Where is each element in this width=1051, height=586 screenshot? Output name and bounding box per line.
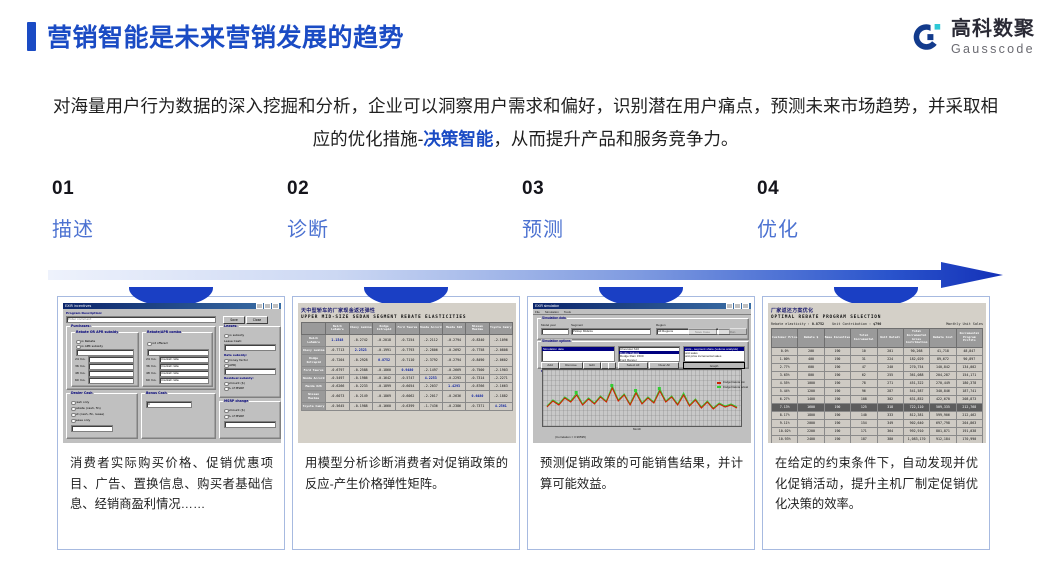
cell: 190 [824, 355, 850, 363]
rebate-meta-elasticity-value: 0.8752 [812, 322, 824, 326]
list-outputs[interactable]: units - segment share (volume analysis) … [683, 346, 745, 362]
cell: 96 [851, 387, 877, 395]
radio-rebate-cash-fin[interactable]: rebate (cash, fin) [71, 406, 101, 410]
step-labels: 01 描述 02 诊断 03 预测 04 优化 [52, 178, 1012, 248]
close-button[interactable]: Close [246, 316, 268, 324]
label-segment: Segment [571, 323, 583, 327]
exir-simulation-window: EXIR simulation File Simulation Tools Si… [533, 303, 751, 443]
radio-residual-pct-msrp[interactable]: % of MSRP [224, 386, 244, 390]
table-row: 5.44% 1200 190 96 287 541,587 340,846 18… [772, 387, 983, 395]
elasticity-row-head-6: Nissan Maxima [302, 390, 326, 402]
cell: 200 [798, 347, 824, 355]
cell: 1,083,170 [903, 435, 929, 443]
list-simulation-cases[interactable]: Simulation data [541, 346, 615, 362]
radio-no-rebate[interactable]: no Rebate [76, 339, 95, 343]
cell: 190 [824, 371, 850, 379]
elasticity-title-en: UPPER MID-SIZE SEDAN SEGMENT REBATE ELAS… [301, 315, 513, 320]
logo-text-cn: 高科数聚 [951, 19, 1035, 39]
group-simulation-options: Simulation options Simulation data Add R… [537, 341, 749, 369]
cell: -0.7500 [466, 366, 489, 374]
card-optimize[interactable]: 厂家返还方案优化 OPTIMAL REBATE PROGRAM SELECTIO… [762, 296, 990, 550]
sim-clear-all-button[interactable]: Clear All [649, 362, 679, 369]
input-term-36[interactable] [88, 363, 134, 370]
table-row: Toyota Camry -0.5645 -0.1988 -0.1660 -0.… [302, 402, 513, 410]
elasticity-corner-cell [302, 323, 326, 335]
cell: -0.6266 [326, 382, 349, 390]
list-models[interactable]: Chevrolet S10 Dodge Dakota Dodge Ram 150… [618, 346, 680, 362]
cell: 271 [877, 379, 903, 387]
cell: -0.6399 [396, 402, 419, 410]
radio-msrp-pct[interactable]: % of MSRP [224, 414, 244, 418]
elasticity-col-5: Mazda 626 [442, 323, 465, 335]
cell: 600 [798, 363, 824, 371]
cell: 78 [851, 379, 877, 387]
cell: 349 [877, 419, 903, 427]
card-caption-predict: 预测促销政策的可能销售结果，并计算可能效益。 [540, 453, 743, 494]
cell: 6.27% [772, 395, 798, 403]
rebate-col-1: Rebate $ [798, 328, 824, 347]
cell: 140,842 [930, 363, 956, 371]
step-03: 03 预测 [522, 178, 722, 242]
cell: -2.2112 [419, 334, 442, 346]
cell: 270,754 [903, 363, 929, 371]
cell: 187,741 [956, 387, 982, 395]
cell: -0.7314 [466, 374, 489, 382]
cell: -2.1663 [489, 382, 512, 390]
label-combo-term-24: 24 mo. [146, 357, 156, 361]
legend-item-sim: Dodge Dakota sim [717, 381, 748, 384]
card-predict[interactable]: EXIR simulation File Simulation Tools Si… [527, 296, 755, 550]
rebate-col-5: Total Incremental Gross Contribution [903, 328, 929, 347]
select-combo-amount[interactable] [147, 349, 209, 356]
elasticity-row-head-4: Honda Accord [302, 374, 326, 382]
radio-all-cash-fin-lease[interactable]: all (cash, fin, lease) [71, 412, 104, 416]
cell: 190 [824, 411, 850, 419]
group-rebate-apr-combo: Rebate/APR combo not offered 24 mo. mark… [142, 332, 213, 387]
lead-text-part2: ，从而提升产品和服务竞争力。 [493, 129, 738, 149]
rebate-col-2: Base Incentive [824, 328, 850, 347]
step-03-number: 03 [522, 178, 722, 200]
table-row: 0.0% 200 190 10 201 90,268 41,718 48,847 [772, 347, 983, 355]
cell: 422,670 [930, 395, 956, 403]
cell: 62 [851, 371, 877, 379]
cell: -2.2271 [489, 374, 512, 382]
rebate-header-row: Customer Price Rebate $ Base Incentive T… [772, 328, 983, 347]
table-row: 6.27% 1400 190 108 302 631,852 422,670 2… [772, 395, 983, 403]
cell: 224 [877, 355, 903, 363]
cell: -0.5645 [326, 402, 349, 410]
cell: 140 [851, 411, 877, 419]
radio-residual-amount[interactable]: amount ($) [224, 381, 245, 385]
cell: 364 [877, 427, 903, 435]
cell: 108 [851, 395, 877, 403]
elasticity-row-head-0: Buick LeSabre [302, 334, 326, 346]
cell: 697,798 [930, 419, 956, 427]
cell: 10.93% [772, 435, 798, 443]
optimal-rebate-table: Customer Price Rebate $ Base Incentive T… [771, 328, 983, 444]
cell: 187 [851, 435, 877, 443]
legend-label-sim: Dodge Dakota sim [723, 381, 745, 384]
cell: 190 [824, 403, 850, 411]
label-region: Region [656, 323, 666, 327]
step-01-label: 描述 [52, 213, 252, 242]
select-bonus-cash-amount[interactable] [146, 401, 192, 408]
step-02-label: 诊断 [287, 213, 487, 242]
label-term-60: 60 mo. [75, 378, 85, 382]
legend-swatch-sim-icon [717, 382, 721, 384]
cell: -0.7204 [326, 354, 349, 366]
cell: -0.7254 [396, 334, 419, 346]
menu-file[interactable]: File [535, 310, 540, 314]
card-diagnose[interactable]: 天中型轿车的厂家现金返还弹性 UPPER MID-SIZE SEDAN SEGM… [292, 296, 520, 550]
radio-apr[interactable]: (APR) [224, 363, 236, 367]
group-purchases: Purchases: Rebate OR APR subsidy no Reba… [66, 326, 216, 390]
correlation-text: (Correlation = 0.96595) [555, 435, 586, 439]
cell: 912,184 [930, 435, 956, 443]
cell: -0.2692 [442, 346, 465, 354]
label-combo-term-60: 60 mo. [146, 378, 156, 382]
add-button[interactable]: Add [541, 362, 559, 369]
cell: 0.8752 [372, 354, 395, 366]
elasticity-col-3: Ford Taurus [396, 323, 419, 335]
cell: -0.2293 [442, 374, 465, 382]
select-lease-cash[interactable] [224, 344, 276, 351]
input-term-48[interactable] [88, 370, 134, 377]
edit-button[interactable]: Edit [583, 362, 601, 369]
cell: 333 [877, 411, 903, 419]
select-rebate-amount[interactable] [76, 349, 134, 356]
cell: -0.1869 [372, 390, 395, 402]
cell: 89,672 [930, 355, 956, 363]
select-model-year[interactable] [541, 328, 569, 335]
group-dealer-cash-title: Dealer Cash [70, 391, 94, 395]
table-row: Chevy Lumina -0.7713 2.2523 -0.1991 -0.7… [302, 346, 513, 354]
step-04: 04 优化 [757, 178, 957, 242]
cell: 201 [877, 347, 903, 355]
cell: 191,038 [956, 427, 982, 435]
cell: 318 [877, 403, 903, 411]
graph-button[interactable]: Graph [683, 362, 745, 369]
cell: 451,322 [903, 379, 929, 387]
cell: -2.2806 [419, 346, 442, 354]
table-row: 2.77% 600 190 47 240 270,754 140,842 134… [772, 363, 983, 371]
cell: 8.17% [772, 411, 798, 419]
radio-money-factor[interactable]: money factor [224, 358, 248, 362]
cell: 212,462 [956, 411, 982, 419]
cell: 4.2561 [489, 402, 512, 410]
card-caption-optimize: 在给定的约束条件下，自动发现并优化促销活动，提升主机厂制定促销优化决策的效率。 [775, 453, 978, 515]
cell: -2.3792 [419, 354, 442, 366]
group-msrp-change-title: MSRP change [223, 399, 249, 403]
cell: 2400 [798, 435, 824, 443]
label-combo-term-36: 36 mo. [146, 364, 156, 368]
group-rebate-apr-combo-title: Rebate/APR combo [146, 330, 182, 334]
cell: -0.6054 [396, 382, 419, 390]
step-01-number: 01 [52, 178, 252, 200]
cell: -2.0808 [489, 346, 512, 354]
elasticity-row-head-5: Mazda 626 [302, 382, 326, 390]
run-button[interactable]: Run [718, 328, 747, 335]
cell: 171 [851, 427, 877, 435]
input-rate-subsidy-value[interactable] [224, 368, 276, 375]
rebate-meta-row: Rebate elasticity : 0.8752 Unit Contribu… [771, 322, 983, 326]
cell: -0.7110 [396, 354, 419, 366]
cell: -0.5497 [326, 374, 349, 382]
cell: -2.1903 [489, 366, 512, 374]
input-msrp-change-value[interactable] [224, 421, 276, 428]
cell: -0.2742 [349, 334, 372, 346]
radio-no-subsidy[interactable]: no subsidy [224, 333, 244, 337]
group-dealer-cash: Dealer Cash cash only rebate (cash, fin)… [66, 393, 138, 439]
cell: 212,768 [956, 403, 982, 411]
cell: 190 [824, 347, 850, 355]
cell: 182,029 [903, 355, 929, 363]
cell: 1600 [798, 403, 824, 411]
elasticity-row-head-3: Ford Taurus [302, 366, 326, 374]
cell: 48,847 [956, 347, 982, 355]
cell: -2.2037 [419, 382, 442, 390]
move-down-icon[interactable] [608, 362, 616, 369]
cell: -0.1899 [372, 382, 395, 390]
simulation-case-selected[interactable]: Simulation data [542, 347, 614, 351]
label-lease-cash: Lease Cash: [224, 339, 242, 343]
cell: -0.7371 [466, 402, 489, 410]
cell: 5.44% [772, 387, 798, 395]
page-title: 营销智能是未来营销发展的趋势 [47, 18, 404, 54]
sim-model-option-3[interactable]: Ford Ranger [619, 358, 679, 362]
elasticity-matrix: 天中型轿车的厂家现金返还弹性 UPPER MID-SIZE SEDAN SEGM… [298, 303, 516, 443]
cell: -0.7793 [396, 346, 419, 354]
lead-paragraph: 对海量用户行为数据的深入挖掘和分析，企业可以洞察用户需求和偏好，识别潜在用户痛点… [50, 90, 1001, 156]
rebate-meta-right: Monthly Unit Sales [946, 322, 983, 326]
value-segment: Pickup Midsize [573, 329, 593, 333]
cell: 170,990 [956, 435, 982, 443]
cell: 812,381 [903, 411, 929, 419]
cell: 2200 [798, 427, 824, 435]
elasticity-col-1: Chevy Lumina [349, 323, 372, 335]
group-leases-title: Leases: [223, 324, 239, 328]
logo-text-en: Gausscode [951, 43, 1035, 56]
cell: 722,110 [903, 403, 929, 411]
cell: 992,910 [903, 427, 929, 435]
elasticity-col-4: Honda Accord [419, 323, 442, 335]
elasticity-header-row: Buick LeSabre Chevy Lumina Dodge Intrepi… [302, 323, 513, 335]
label-term-48: 48 mo. [75, 371, 85, 375]
cell: 287 [877, 387, 903, 395]
cell: 0.6480 [466, 390, 489, 402]
cell: 190 [824, 419, 850, 427]
cell: 204,863 [956, 419, 982, 427]
cell: 631,852 [903, 395, 929, 403]
cell: 41,718 [930, 347, 956, 355]
cell: 1.00% [772, 355, 798, 363]
rebate-col-4: Unit Retail [877, 328, 903, 347]
legend-swatch-actual-icon [717, 386, 721, 388]
label-combo-term-48: 48 mo. [146, 371, 156, 375]
cell: 1800 [798, 411, 824, 419]
brand-logo: 高科数聚 Gausscode [909, 19, 1035, 56]
cell: -2.1882 [489, 390, 512, 402]
cell: -0.1660 [372, 402, 395, 410]
save-button[interactable]: Save [223, 316, 245, 324]
card-thumbnail-describe: EXIR incentives Program Description: Ent… [63, 303, 281, 443]
cell: 90,268 [903, 347, 929, 355]
cell: -0.8490 [466, 354, 489, 366]
radio-lease-only[interactable]: lease only [71, 418, 90, 422]
group-leases: Leases: no subsidy Lease Cash: Rate subs… [219, 326, 281, 398]
table-row: 4.55% 1000 190 78 271 451,322 270,449 18… [772, 379, 983, 387]
card-caption-describe: 消费者实际购买价格、促销优惠项目、广告、置换信息、购买者基础信息、经销商盈利情况… [70, 453, 273, 515]
table-row: 1.00% 400 190 31 224 182,029 89,672 90,8… [772, 355, 983, 363]
cell: -0.2794 [442, 354, 465, 366]
sim-select-all-button[interactable]: Select All [618, 362, 648, 369]
elasticity-col-7: Toyota Camry [489, 323, 512, 335]
radio-msrp-amount[interactable]: amount ($) [224, 408, 245, 412]
cell: -0.8340 [466, 334, 489, 346]
table-row: Buick LeSabre 1.1548 -0.2742 -0.2018 -0.… [302, 334, 513, 346]
group-msrp-change: MSRP change amount ($) % of MSRP [219, 401, 281, 439]
cell: 801,871 [930, 427, 956, 435]
rebate-col-0: Customer Price [772, 328, 798, 347]
chart-xaxis-label: Month [633, 427, 641, 431]
step-04-number: 04 [757, 178, 957, 200]
table-row: 3.63% 800 190 62 255 361,088 204,287 154… [772, 371, 983, 379]
step-01: 01 描述 [52, 178, 252, 242]
cell: 2.77% [772, 363, 798, 371]
stage-cards: EXIR incentives Program Description: Ent… [0, 296, 1051, 558]
cell: -1.7436 [419, 402, 442, 410]
input-term-24[interactable] [88, 356, 134, 363]
label-model-year: Model year [541, 323, 556, 327]
exir-incentives-dialog: EXIR incentives Program Description: Ent… [63, 303, 281, 443]
elasticity-row-head-1: Chevy Lumina [302, 346, 326, 354]
remove-button[interactable]: Remove [559, 362, 583, 369]
cell: 31 [851, 355, 877, 363]
step-02: 02 诊断 [287, 178, 487, 242]
cell: -0.7713 [326, 346, 349, 354]
logo-wordmark: 高科数聚 Gausscode [951, 19, 1035, 56]
cell: -0.7758 [466, 346, 489, 354]
cell: -0.1988 [349, 402, 372, 410]
group-purchases-title: Purchases: [70, 324, 92, 328]
cell: 190 [824, 387, 850, 395]
rebate-title-en: OPTIMAL REBATE PROGRAM SELECTION [771, 315, 983, 320]
sim-output-option-2[interactable]: unit price incremental sales [684, 354, 744, 358]
optimal-rebate-panel: 厂家返还方案优化 OPTIMAL REBATE PROGRAM SELECTIO… [768, 303, 986, 443]
cell: 204,287 [930, 371, 956, 379]
cell: 541,587 [903, 387, 929, 395]
card-thumbnail-optimize: 厂家返还方案优化 OPTIMAL REBATE PROGRAM SELECTIO… [768, 303, 986, 443]
radio-no-apr-subsidy[interactable]: no APR subsidy [76, 344, 103, 348]
input-term-60[interactable] [88, 377, 134, 384]
step-04-label: 优化 [757, 213, 957, 242]
table-row: Nissan Maxima -0.6073 -0.2149 -0.1869 -0… [302, 390, 513, 402]
card-thumbnail-predict: EXIR simulation File Simulation Tools Si… [533, 303, 751, 443]
card-caption-diagnose: 用模型分析诊断消费者对促销政策的反应-产生价格弹性矩阵。 [305, 453, 508, 494]
dialog-body: Program Description: Enter comment Save … [63, 309, 281, 443]
cell: -0.2928 [349, 354, 372, 366]
group-bonus-cash: Bonus Cash 0 [141, 393, 216, 439]
cell: 180,378 [956, 379, 982, 387]
cell: 47 [851, 363, 877, 371]
rebate-col-7: Incremental Program Profits [956, 328, 982, 347]
cell: 190 [824, 363, 850, 371]
rebate-title-cn: 厂家返还方案优化 [771, 307, 983, 314]
step-02-number: 02 [287, 178, 487, 200]
menu-simulation[interactable]: Simulation [545, 310, 559, 314]
cell: 1000 [798, 379, 824, 387]
cell: 302 [877, 395, 903, 403]
radio-cash-only[interactable]: cash only [71, 400, 89, 404]
cell: 1200 [798, 387, 824, 395]
cell: 10 [851, 347, 877, 355]
cell: -0.2386 [442, 402, 465, 410]
cell: 902,640 [903, 419, 929, 427]
simulation-title: EXIR simulation [535, 304, 559, 308]
cell: 800 [798, 371, 824, 379]
cell: 340,846 [930, 387, 956, 395]
cell: -0.1642 [372, 374, 395, 382]
value-combo-rate-48: market rate [161, 371, 179, 375]
select-dealer-cash-amount[interactable] [71, 425, 113, 432]
cell: 4.55% [772, 379, 798, 387]
cell: -0.1986 [349, 374, 372, 382]
cell: 270,449 [930, 379, 956, 387]
cell: -0.6797 [326, 366, 349, 374]
rebate-col-6: Rebate Cost [930, 328, 956, 347]
cell: -0.2588 [349, 366, 372, 374]
cell: 1400 [798, 395, 824, 403]
cell: 361,088 [903, 371, 929, 379]
cell: 190 [824, 427, 850, 435]
legend-label-actual: Dodge Dakota actual [723, 386, 748, 389]
table-row: 10.93% 2400 190 187 380 1,083,170 912,18… [772, 435, 983, 443]
label-rate-subsidy: Rate subsidy: [224, 353, 247, 357]
menu-tools[interactable]: Tools [564, 310, 571, 314]
rebate-meta-contribution-label: Unit Contribution : [832, 322, 871, 326]
cell: 154,171 [956, 371, 982, 379]
cell: 0.9480 [396, 366, 419, 374]
radio-not-offered[interactable]: not offered [147, 341, 168, 345]
cell: -0.2233 [349, 382, 372, 390]
rebate-meta-contribution-value: $790 [873, 322, 881, 326]
cell: 9.11% [772, 419, 798, 427]
simulation-menubar[interactable]: File Simulation Tools [533, 309, 751, 315]
rebate-col-3: Total Incremental [851, 328, 877, 347]
cell: -0.2794 [442, 334, 465, 346]
cell: 509,335 [930, 403, 956, 411]
cell: 3.63% [772, 371, 798, 379]
group-simulation-data: Simulation data Model year Segment Regio… [537, 318, 749, 340]
cell: 125 [851, 403, 877, 411]
cell: -0.1860 [372, 366, 395, 374]
label-term-24: 24 mo. [75, 357, 85, 361]
cell: 240 [877, 363, 903, 371]
card-describe[interactable]: EXIR incentives Program Description: Ent… [57, 296, 285, 550]
table-row-highlighted: 7.13% 1600 190 125 318 722,110 509,335 2… [772, 403, 983, 411]
legend-item-actual: Dodge Dakota actual [717, 386, 748, 389]
table-row: 10.02% 2200 190 171 364 992,910 801,871 … [772, 427, 983, 435]
group-simulation-options-title: Simulation options [541, 339, 572, 343]
progression-arrow-icon [48, 262, 1003, 288]
cell: -2.2017 [419, 390, 442, 402]
slide-header: 营销智能是未来营销发展的趋势 高科数聚 Gausscode [0, 0, 1051, 72]
cell: -0.6062 [396, 390, 419, 402]
group-simulation-data-title: Simulation data [541, 316, 567, 320]
label-residual-subsidy: Residual subsidy: [224, 376, 254, 380]
label-term-36: 36 mo. [75, 364, 85, 368]
save-case-button[interactable]: Save Case [688, 328, 717, 335]
